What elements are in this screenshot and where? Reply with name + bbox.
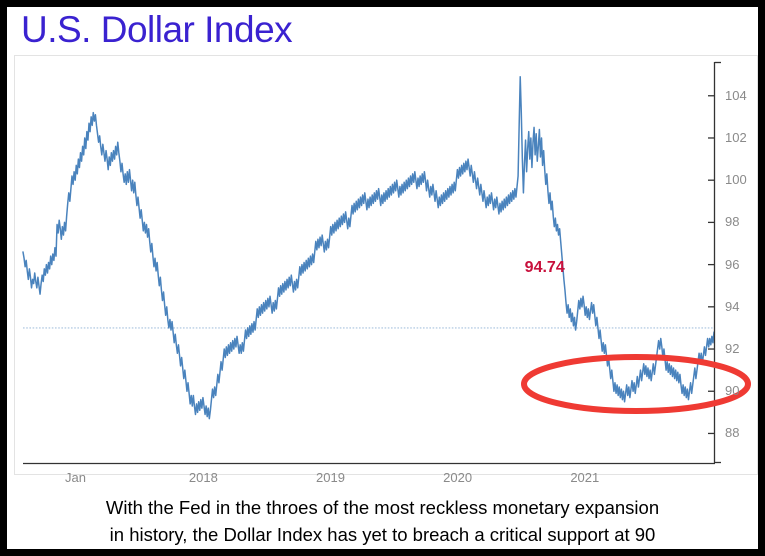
x-tick-label: 2020 [443, 470, 472, 485]
chart-container: U.S. Dollar Index 104102100989694929088 … [0, 0, 765, 556]
y-tick-label: 102 [725, 130, 747, 145]
plot-area-card [14, 55, 758, 475]
x-tick-label: Jan [65, 470, 86, 485]
y-tick-label: 98 [725, 214, 739, 229]
y-tick-label: 92 [725, 341, 739, 356]
caption-line-2: in history, the Dollar Index has yet to … [14, 521, 751, 548]
x-tick-label: 2019 [316, 470, 345, 485]
y-tick-label: 90 [725, 383, 739, 398]
y-tick-label: 104 [725, 88, 747, 103]
caption-line-1: With the Fed in the throes of the most r… [14, 494, 751, 521]
price-annotation-label: 94.74 [525, 259, 565, 277]
y-tick-label: 100 [725, 172, 747, 187]
y-tick-label: 88 [725, 425, 739, 440]
page-title: U.S. Dollar Index [21, 5, 292, 55]
x-tick-label: 2018 [189, 470, 218, 485]
y-tick-label: 94 [725, 299, 739, 314]
x-tick-label: 2021 [570, 470, 599, 485]
chart-caption: With the Fed in the throes of the most r… [14, 494, 751, 548]
y-tick-label: 96 [725, 257, 739, 272]
